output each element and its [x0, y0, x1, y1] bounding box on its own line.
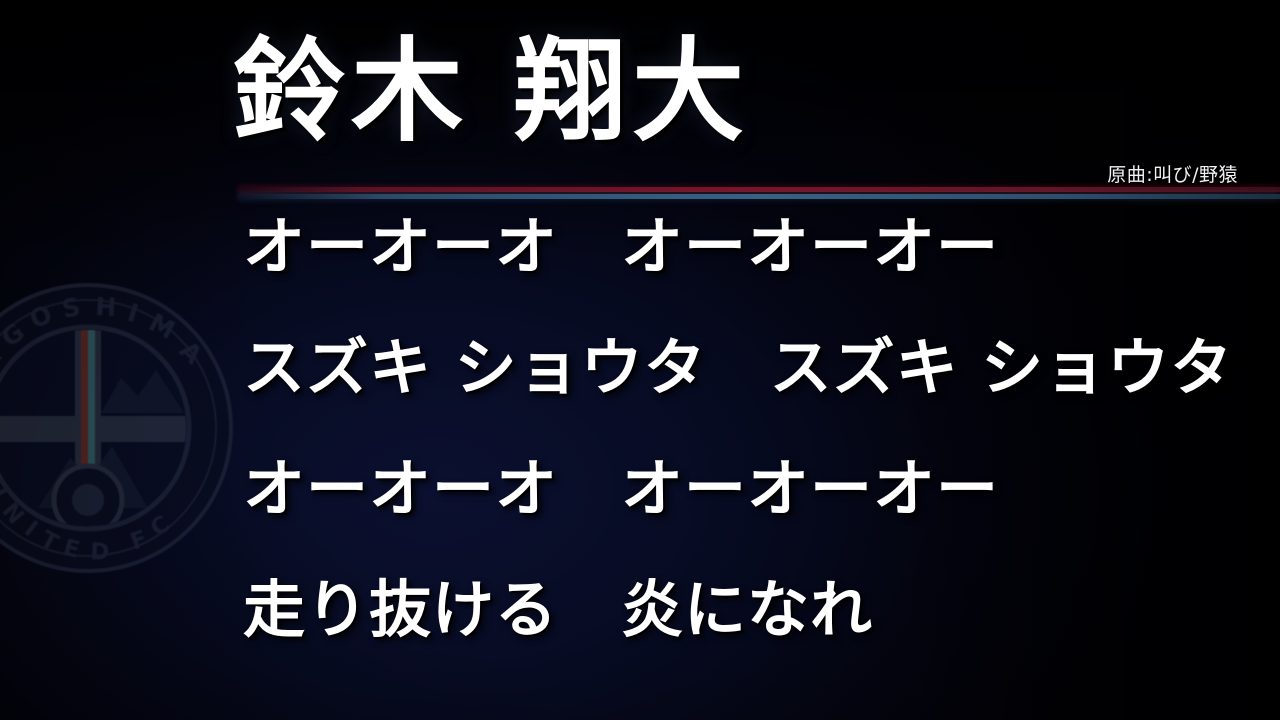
- original-song-credit: 原曲:叫び/野猿: [1107, 160, 1238, 187]
- lyric-line: オーオーオ オーオーオー: [243, 216, 1263, 278]
- chant-lyrics-screen: K A G O S H I M A U N I T E D F C 鈴木: [0, 0, 1280, 720]
- lyric-line: スズキ ショウタ スズキ ショウタ: [243, 337, 1263, 399]
- kagoshima-united-fc-crest-icon: K A G O S H I M A U N I T E D F C: [0, 278, 238, 578]
- club-crest-watermark: K A G O S H I M A U N I T E D F C: [0, 278, 238, 578]
- svg-text:H: H: [95, 292, 120, 322]
- page-title: 鈴木 翔大: [233, 34, 750, 152]
- divider-blue-rule: [238, 194, 1280, 199]
- lyric-line: オーオーオ オーオーオー: [243, 458, 1263, 520]
- divider: [238, 186, 1280, 200]
- lyrics-block: オーオーオ オーオーオー スズキ ショウタ スズキ ショウタ オーオーオ オーオ…: [243, 216, 1263, 641]
- divider-red-rule: [238, 187, 1280, 192]
- lyric-line: 走り抜ける 炎になれ: [243, 579, 1263, 641]
- svg-text:D: D: [90, 539, 113, 566]
